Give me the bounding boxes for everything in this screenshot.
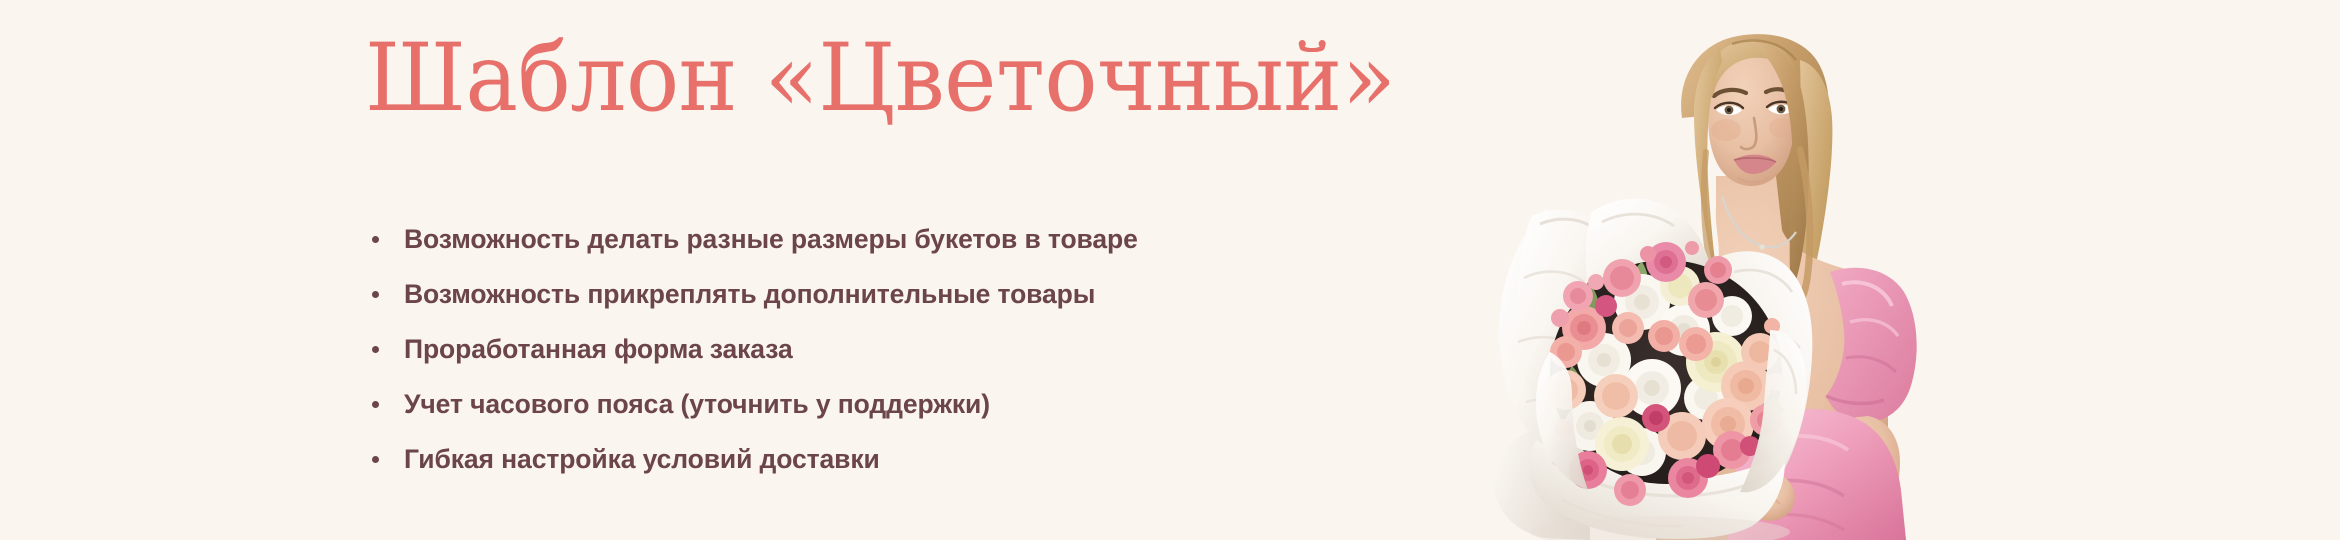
pupil-left bbox=[1727, 108, 1731, 112]
bouquet-model-photo bbox=[1470, 0, 2150, 540]
bullet-dot-icon bbox=[372, 401, 379, 408]
list-item-label: Возможность прикреплять дополнительные т… bbox=[404, 279, 1095, 309]
list-item-label: Возможность делать разные размеры букето… bbox=[404, 224, 1138, 254]
flower-template-banner: Шаблон «Цветочный» Возможность делать ра… bbox=[0, 0, 2340, 540]
bullet-dot-icon bbox=[372, 456, 379, 463]
page-title: Шаблон «Цветочный» bbox=[365, 32, 1395, 126]
list-item: Возможность прикреплять дополнительные т… bbox=[369, 267, 1138, 322]
list-item: Проработанная форма заказа bbox=[369, 322, 1138, 377]
bullet-dot-icon bbox=[372, 236, 379, 243]
text-column: Шаблон «Цветочный» Возможность делать ра… bbox=[365, 0, 1365, 540]
necklace-pendant bbox=[1759, 244, 1764, 249]
cheek-blush bbox=[1711, 119, 1741, 141]
feature-list: Возможность делать разные размеры букето… bbox=[369, 212, 1138, 487]
list-item-label: Гибкая настройка условий доставки bbox=[404, 444, 880, 474]
list-item: Учет часового пояса (уточнить у поддержк… bbox=[369, 377, 1138, 432]
bullet-dot-icon bbox=[372, 346, 379, 353]
list-item-label: Проработанная форма заказа bbox=[404, 334, 793, 364]
list-item: Возможность делать разные размеры букето… bbox=[369, 212, 1138, 267]
list-item-label: Учет часового пояса (уточнить у поддержк… bbox=[404, 389, 990, 419]
bullet-dot-icon bbox=[372, 291, 379, 298]
pupil-right bbox=[1779, 107, 1783, 111]
bouquet-model-illustration bbox=[1470, 0, 2150, 540]
list-item: Гибкая настройка условий доставки bbox=[369, 432, 1138, 487]
